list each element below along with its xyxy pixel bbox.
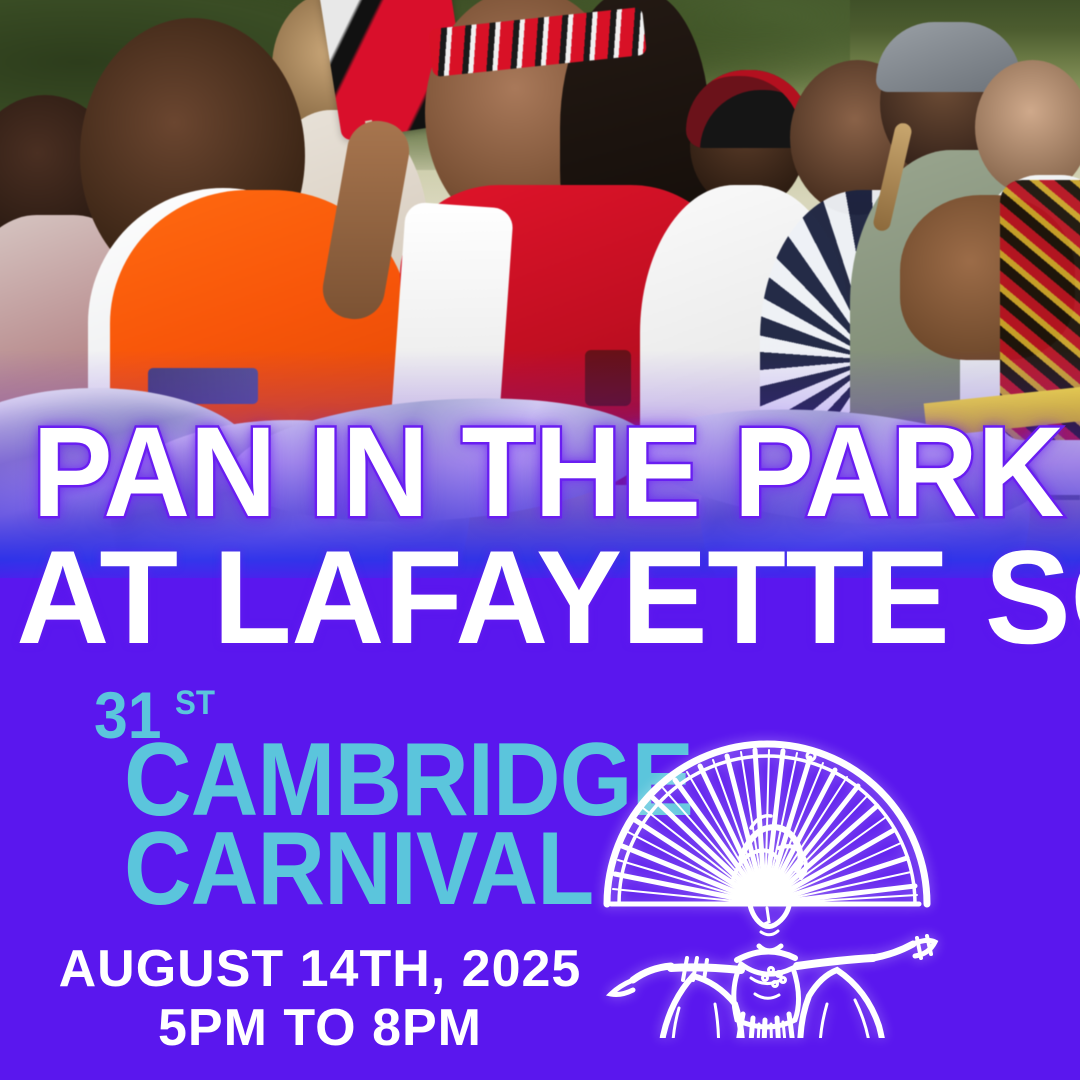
carnival-logo: [565, 708, 965, 1038]
schedule-block: AUGUST 14TH, 2025 5PM TO 8PM: [40, 940, 600, 1059]
carnival-photo: [0, 0, 1080, 600]
photo-to-purple-gradient: [0, 350, 1080, 600]
poster-canvas: PAN IN THE PARK AT LAFAYETTE SQUARE 31 S…: [0, 0, 1080, 1080]
event-date: AUGUST 14TH, 2025: [40, 940, 600, 999]
event-name-block: 31 ST CAMBRIDGE CARNIVAL: [72, 688, 592, 913]
carnival-masquerader-icon: [565, 708, 965, 1038]
event-time: 5PM TO 8PM: [40, 999, 600, 1058]
event-ordinal-suffix: ST: [175, 686, 215, 720]
event-name-line-2: CARNIVAL: [124, 827, 592, 912]
